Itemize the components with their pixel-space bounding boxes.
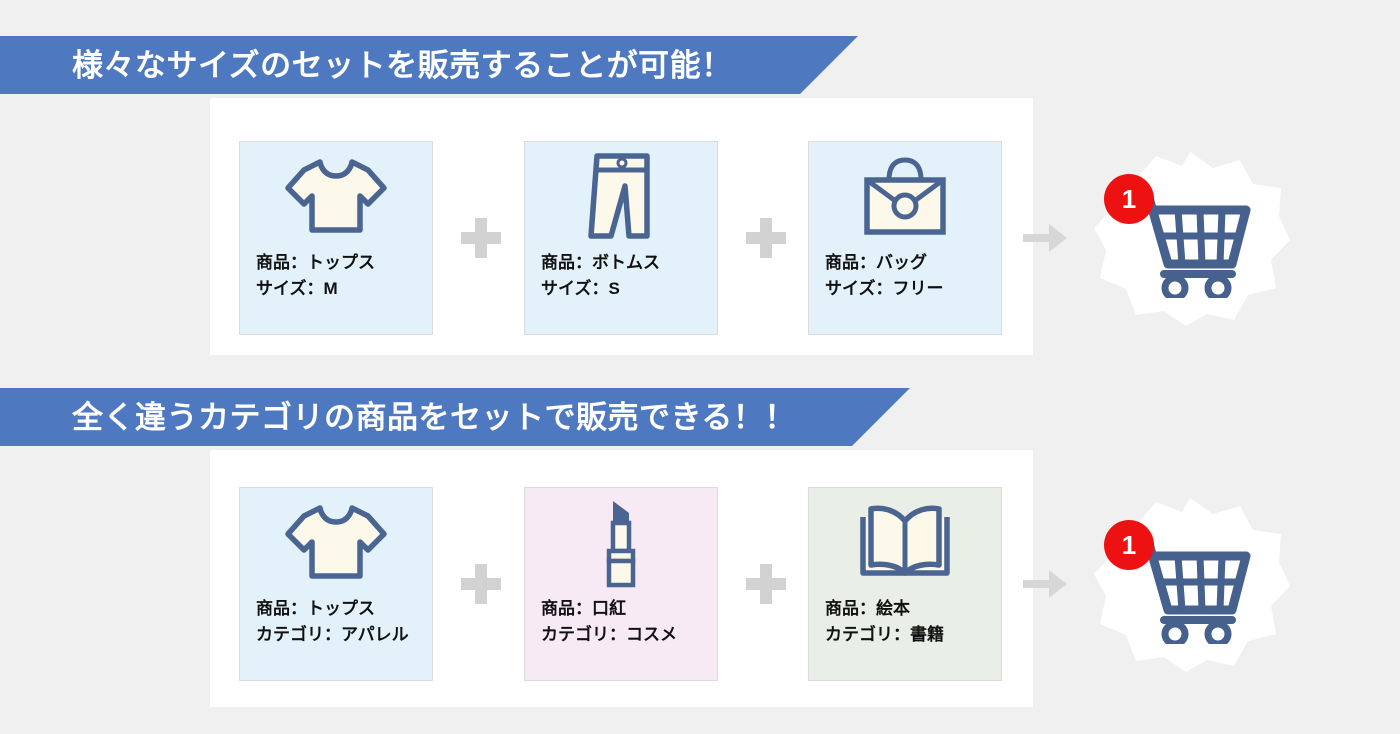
section-1-banner-text: 様々なサイズのセットを販売することが可能！ [72,50,733,81]
cart-count-value: 1 [1122,532,1136,558]
product-card: 商品：バッグ サイズ：フリー [808,141,1002,335]
cart-count-badge: 1 [1104,174,1154,224]
arrow-right-icon [1023,221,1069,255]
tshirt-icon [240,488,432,596]
tshirt-icon [240,142,432,250]
card-line-product: 商品：バッグ [825,250,1001,276]
banner-tail-shape [800,36,858,94]
card-line-category: カテゴリ：書籍 [825,622,1001,648]
lipstick-icon [525,488,717,596]
card-text-block: 商品：絵本 カテゴリ：書籍 [809,596,1001,647]
product-card: 商品：絵本 カテゴリ：書籍 [808,487,1002,681]
card-line-size: サイズ：フリー [825,276,1001,302]
arrow-right-icon [1023,567,1069,601]
card-text-block: 商品：トップス サイズ：M [240,250,432,301]
cart-result-group: 1 [1090,148,1290,328]
section-2-banner-text: 全く違うカテゴリの商品をセットで販売できる！！ [72,402,796,433]
product-card: 商品：口紅 カテゴリ：コスメ [524,487,718,681]
card-line-size: サイズ：M [256,276,432,302]
cart-result-group: 1 [1090,494,1290,674]
infographic-canvas: 様々なサイズのセットを販売することが可能！ 商品：トップス サイズ：M 商品：ボ… [0,0,1400,734]
card-text-block: 商品：トップス カテゴリ：アパレル [240,596,432,647]
plus-icon [746,564,786,604]
card-line-product: 商品：絵本 [825,596,1001,622]
plus-icon [461,564,501,604]
card-line-category: カテゴリ：アパレル [256,622,432,648]
book-icon [809,488,1001,596]
cart-count-value: 1 [1122,186,1136,212]
product-card: 商品：ボトムス サイズ：S [524,141,718,335]
card-text-block: 商品：口紅 カテゴリ：コスメ [525,596,717,647]
banner-tail-shape [852,388,910,446]
card-line-product: 商品：口紅 [541,596,717,622]
bag-icon [809,142,1001,250]
plus-icon [746,218,786,258]
card-text-block: 商品：バッグ サイズ：フリー [809,250,1001,301]
card-line-product: 商品：トップス [256,250,432,276]
card-line-product: 商品：ボトムス [541,250,717,276]
card-line-product: 商品：トップス [256,596,432,622]
card-text-block: 商品：ボトムス サイズ：S [525,250,717,301]
pants-icon [525,142,717,250]
cart-count-badge: 1 [1104,520,1154,570]
product-card: 商品：トップス カテゴリ：アパレル [239,487,433,681]
section-1-banner: 様々なサイズのセットを販売することが可能！ [0,36,800,94]
card-line-size: サイズ：S [541,276,717,302]
plus-icon [461,218,501,258]
card-line-category: カテゴリ：コスメ [541,622,717,648]
product-card: 商品：トップス サイズ：M [239,141,433,335]
section-2-banner: 全く違うカテゴリの商品をセットで販売できる！！ [0,388,852,446]
